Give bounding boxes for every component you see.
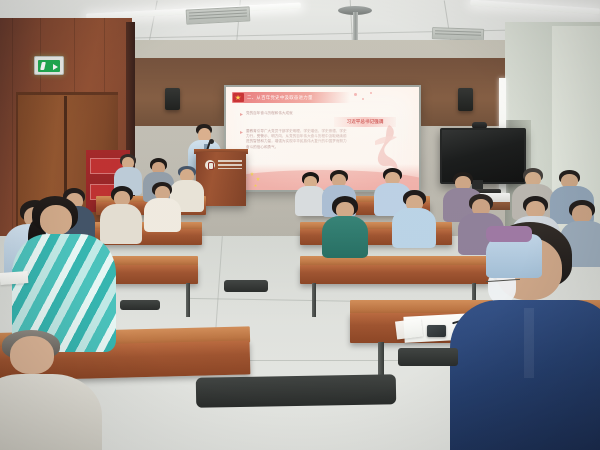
- chair: [224, 280, 268, 292]
- air-vent: [432, 27, 484, 41]
- slide-title-bar: 二、从百年党史中汲取奋进力量: [232, 92, 350, 103]
- slide-paragraph-1: 党的百年奋斗历程和伟大成就: [246, 111, 342, 116]
- desk-row3-right-body: [300, 265, 490, 284]
- wall-speaker-left: [165, 88, 180, 110]
- slide-paragraph-2: 要教育引导广大党员干部学史明理、学史增信、学史崇德、学史力行，受警示、明方向，从…: [246, 129, 350, 150]
- smartphone[interactable]: [427, 325, 446, 337]
- slide-bullet-icon: [240, 131, 243, 134]
- exit-sign: [34, 56, 64, 75]
- exit-icon: [38, 60, 60, 72]
- podium-org-name: [218, 160, 242, 169]
- audience-shoulder: [486, 226, 532, 242]
- slide-decor-star: [362, 98, 364, 100]
- slide-decor-star: [370, 92, 372, 94]
- paper-sheet: [0, 271, 28, 285]
- party-emblem-icon: [233, 93, 244, 102]
- chair: [120, 300, 160, 310]
- desk-leg: [186, 283, 190, 317]
- slide-title-text: 二、从百年党史中汲取奋进力量: [247, 95, 313, 101]
- conference-room-photo: 二、从百年党史中汲取奋进力量 习近平总书记强调 党的百年奋斗历程和伟大成就 要教…: [0, 0, 600, 450]
- microphone-head: [209, 139, 214, 144]
- slide-decor-star: [354, 93, 357, 96]
- slide-bullet-icon: [240, 113, 243, 116]
- podium-logo-icon: [205, 160, 215, 170]
- paper-sheet: [395, 318, 423, 339]
- desk-leg: [312, 283, 316, 317]
- chair: [398, 348, 458, 366]
- chair-front: [196, 374, 396, 407]
- wall-speaker-right: [458, 88, 473, 111]
